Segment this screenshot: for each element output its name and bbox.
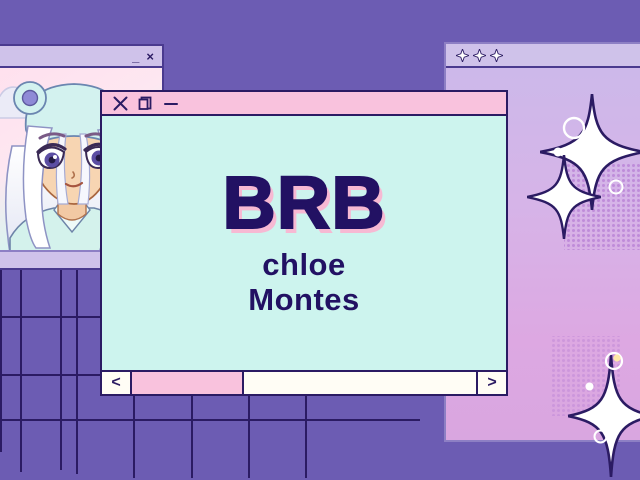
screenshot-canvas: _ × bbox=[0, 0, 640, 480]
brb-window-titlebar[interactable] bbox=[102, 92, 506, 116]
scroll-right-button[interactable]: > bbox=[476, 372, 506, 394]
scrollbar-thumb[interactable] bbox=[132, 372, 244, 394]
page-title: BRB bbox=[222, 168, 385, 238]
brb-window-content: BRB chloe Montes bbox=[102, 116, 506, 370]
close-icon[interactable] bbox=[113, 96, 128, 111]
close-icon[interactable]: × bbox=[146, 50, 154, 63]
minimize-icon[interactable]: _ bbox=[132, 50, 139, 63]
horizontal-scrollbar[interactable]: < > bbox=[102, 370, 506, 394]
scrollbar-track[interactable] bbox=[132, 372, 476, 394]
brb-window[interactable]: BRB chloe Montes < > bbox=[100, 90, 508, 396]
diamond-icon bbox=[456, 49, 469, 62]
diamond-icon bbox=[490, 49, 503, 62]
minimize-icon[interactable] bbox=[163, 96, 179, 111]
scroll-left-button[interactable]: < bbox=[102, 372, 132, 394]
sparkle-window-titlebar[interactable] bbox=[446, 44, 640, 68]
avatar-window-titlebar[interactable]: _ × bbox=[0, 46, 162, 68]
subtitle-line-2: Montes bbox=[248, 283, 360, 318]
diamond-icon bbox=[473, 49, 486, 62]
subtitle-line-1: chloe bbox=[248, 248, 360, 283]
subtitle: chloe Montes bbox=[248, 248, 360, 317]
restore-window-icon[interactable] bbox=[138, 96, 153, 111]
